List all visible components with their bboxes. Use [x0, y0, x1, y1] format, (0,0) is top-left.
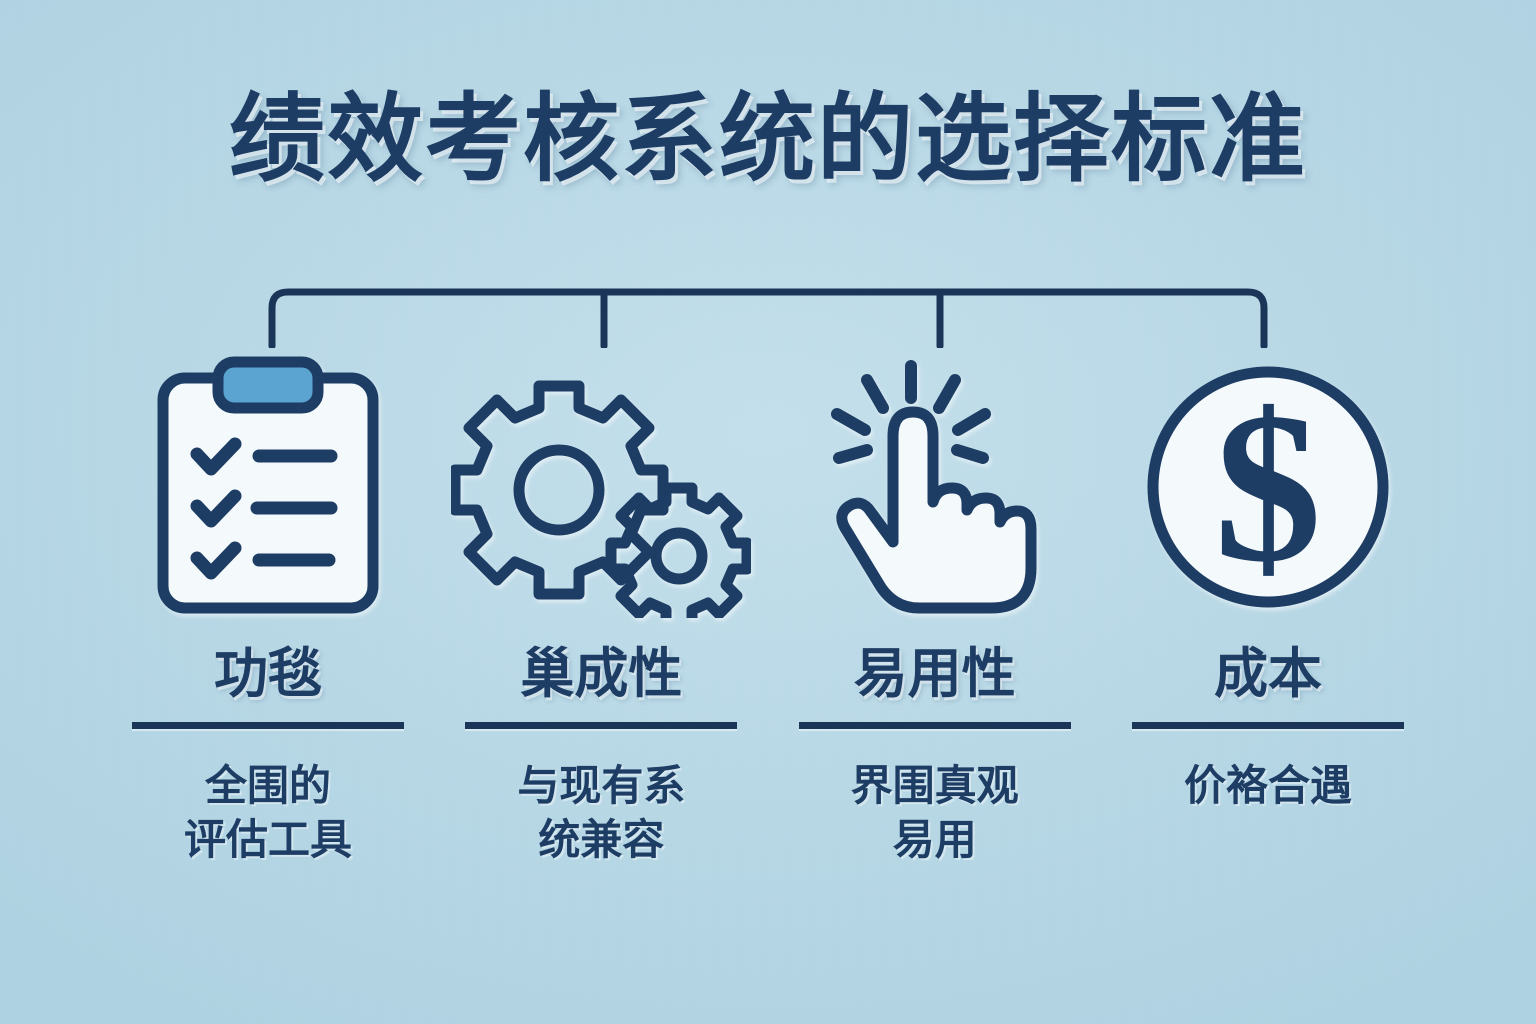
column-heading: 巢成性: [520, 644, 682, 704]
top-bracket-connector: [0, 268, 1536, 348]
criteria-column-cost: $ 成本 价袼合遇: [1118, 352, 1418, 813]
infographic-poster: 绩效考核系统的选择标准 功毯 全围的 评估: [0, 0, 1536, 1024]
pointing-hand-click-icon: [785, 352, 1085, 622]
clipboard-checklist-icon: [118, 352, 418, 622]
column-description: 界围真观 易用: [851, 759, 1019, 867]
column-heading: 功毯: [214, 644, 322, 704]
criteria-column-features: 功毯 全围的 评估工具: [118, 352, 418, 867]
column-description: 价袼合遇: [1184, 759, 1352, 813]
column-heading: 易用性: [854, 644, 1016, 704]
column-description: 与现有系 统兼容: [517, 759, 685, 867]
gears-icon: [451, 352, 751, 622]
column-divider: [799, 722, 1071, 729]
criteria-column-usability: 易用性 界围真观 易用: [785, 352, 1085, 867]
column-divider: [1132, 722, 1404, 729]
page-title: 绩效考核系统的选择标准: [0, 86, 1536, 194]
column-description: 全围的 评估工具: [184, 759, 352, 867]
column-heading: 成本: [1214, 644, 1322, 704]
column-divider: [465, 722, 737, 729]
column-divider: [132, 722, 404, 729]
criteria-columns: 功毯 全围的 评估工具 巢成性 与现有系 统兼容: [118, 352, 1418, 867]
criteria-column-integration: 巢成性 与现有系 统兼容: [451, 352, 751, 867]
dollar-coin-icon: $: [1118, 352, 1418, 622]
svg-text:$: $: [1214, 368, 1322, 607]
